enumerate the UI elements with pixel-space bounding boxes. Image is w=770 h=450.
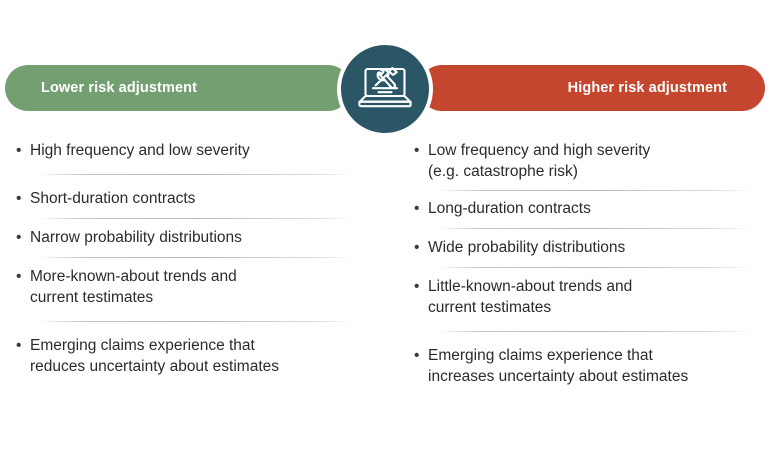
list-item: •Emerging claims experience that increas… [412, 345, 752, 387]
list-item: •Low frequency and high severity (e.g. c… [412, 140, 752, 182]
spacer [14, 161, 354, 174]
spacer [412, 258, 752, 267]
bullet-marker: • [412, 198, 428, 219]
list-item-text: Emerging claims experience that increase… [428, 345, 752, 387]
list-item: •Long-duration contracts [412, 198, 752, 219]
list-item-text: Short-duration contracts [30, 188, 354, 209]
list-item: •Wide probability distributions [412, 237, 752, 258]
list-item: •Short-duration contracts [14, 188, 354, 209]
bullet-marker: • [412, 237, 428, 258]
spacer [412, 219, 752, 228]
spacer [14, 209, 354, 218]
bullet-marker: • [14, 227, 30, 248]
bullet-marker: • [412, 140, 428, 161]
bullet-marker: • [412, 345, 428, 366]
list-item-text: High frequency and low severity [30, 140, 354, 161]
bullet-marker: • [14, 335, 30, 356]
lower-risk-adjustment-label: Lower risk adjustment [41, 80, 197, 96]
spacer [412, 268, 752, 277]
list-item-text: Long-duration contracts [428, 198, 752, 219]
lower-risk-column: •High frequency and low severity•Short-d… [14, 140, 354, 377]
list-item: •Little-known-about trends and current t… [412, 276, 752, 318]
spacer [412, 318, 752, 331]
spacer [14, 322, 354, 335]
spacer [14, 248, 354, 257]
spacer [14, 258, 354, 267]
list-item-text: Wide probability distributions [428, 237, 752, 258]
center-badge [337, 41, 433, 137]
bullet-marker: • [14, 266, 30, 287]
spacer [412, 191, 752, 199]
spacer [14, 175, 354, 188]
higher-risk-adjustment-label: Higher risk adjustment [568, 80, 727, 96]
comparison-columns: •High frequency and low severity•Short-d… [0, 140, 770, 440]
list-item-text: Emerging claims experience that reduces … [30, 335, 354, 377]
bullet-marker: • [14, 140, 30, 161]
higher-risk-adjustment-banner: Higher risk adjustment [419, 65, 765, 111]
laptop-with-wrench-and-screwdriver-icon [356, 64, 414, 114]
list-item: •Emerging claims experience that reduces… [14, 335, 354, 377]
lower-risk-adjustment-banner: Lower risk adjustment [5, 65, 351, 111]
risk-adjustment-infographic: Lower risk adjustment Higher risk adjust… [0, 0, 770, 450]
list-item: •More-known-about trends and current tes… [14, 266, 354, 308]
spacer [412, 332, 752, 345]
spacer [14, 219, 354, 228]
list-item: •Narrow probability distributions [14, 227, 354, 248]
list-item: •High frequency and low severity [14, 140, 354, 161]
list-item-text: More-known-about trends and current test… [30, 266, 354, 308]
spacer [14, 308, 354, 321]
spacer [412, 229, 752, 238]
list-item-text: Low frequency and high severity (e.g. ca… [428, 140, 752, 182]
bullet-marker: • [412, 276, 428, 297]
list-item-text: Narrow probability distributions [30, 227, 354, 248]
bullet-marker: • [14, 188, 30, 209]
list-item-text: Little-known-about trends and current te… [428, 276, 752, 318]
spacer [412, 182, 752, 190]
higher-risk-column: •Low frequency and high severity (e.g. c… [412, 140, 752, 387]
